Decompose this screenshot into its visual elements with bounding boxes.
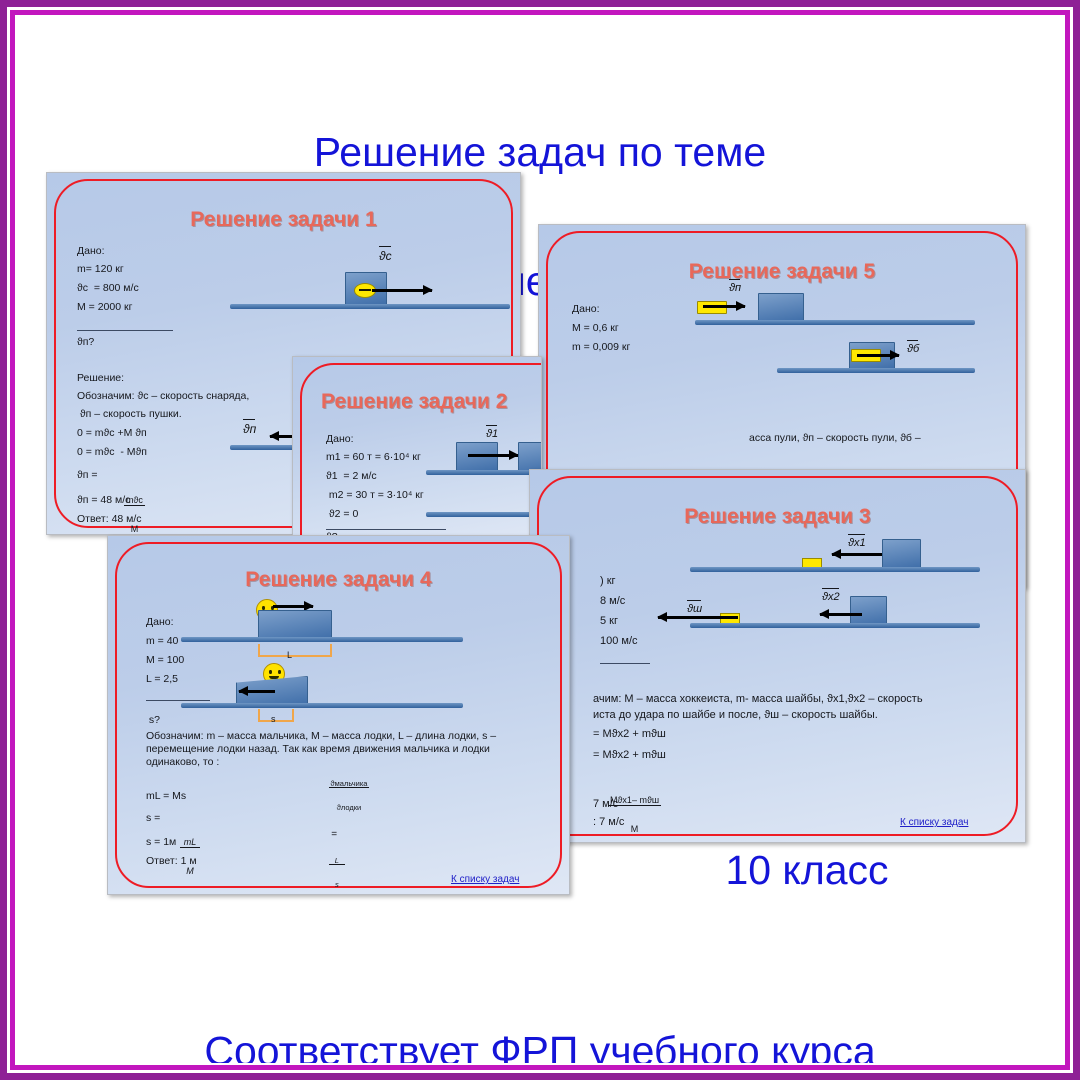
slide4-find: s? — [146, 714, 160, 728]
slide4-sol-3: s = 1м — [146, 836, 176, 850]
slide4-arrow-left — [239, 690, 275, 693]
slide4-brace-s — [258, 709, 294, 722]
slide3-ground-1 — [690, 567, 980, 572]
slide3-given-3: 100 м/с — [600, 634, 638, 648]
grade-label: 10 класс — [617, 849, 997, 892]
slide1-solution-4: ϑп = — [77, 469, 97, 483]
slide3-vsh-text: ϑш — [687, 603, 702, 615]
slide2-v1-text: ϑ1 — [486, 428, 498, 440]
slide-title-2: Решение задачи 2 — [321, 390, 542, 414]
slide1-given-label: Дано: — [77, 245, 105, 259]
slide2-ground-1 — [426, 470, 542, 475]
poster-canvas: Решение задач по теме “Закон сохранения … — [17, 17, 1063, 1063]
slide1-given-1: ϑc = 800 м/с — [77, 282, 139, 296]
slide2-wagon-1 — [456, 442, 498, 472]
slide4-given-0: m = 40 — [146, 635, 178, 649]
slide3-ground-2 — [690, 623, 980, 628]
slide-card-4[interactable]: Решение задачи 4 Дано: m = 40 M = 100 L … — [107, 535, 570, 895]
slide3-arrow-left-2 — [820, 613, 862, 616]
slide4-sol-4: Ответ: 1 м — [146, 855, 197, 869]
slide3-divider — [600, 663, 650, 664]
slide2-wagon-2 — [518, 442, 542, 472]
slide2-arrow-right — [468, 454, 518, 457]
slide1-solution-2: 0 = mϑc +M ϑп — [77, 427, 147, 441]
slide3-arrow-left-3 — [658, 616, 738, 619]
slide1-solution-label: Решение: — [77, 372, 124, 386]
slide2-divider — [326, 529, 446, 530]
slide5-ground-2 — [777, 368, 975, 373]
slide1-solution-1: ϑп – скорость пушки. — [77, 408, 182, 422]
slide3-given-0: ) кг — [600, 574, 616, 588]
slide5-given-label: Дано: — [572, 303, 600, 317]
slide3-sol-1: иста до удара по шайбе и после, ϑш – ско… — [593, 708, 878, 722]
slide3-vx1-label: ϑx1 — [848, 537, 866, 549]
slide-title-5: Решение задачи 5 — [539, 260, 1025, 284]
slide3-back-link[interactable]: К списку задач — [900, 817, 968, 828]
slide3-player-1 — [882, 539, 921, 569]
slide2-given-1: ϑ1 = 2 м/с — [326, 470, 377, 484]
slide3-sol-4: 7 м/с — [593, 797, 618, 811]
frp-line1: Соответствует ФРП учебного курса — [17, 1029, 1063, 1063]
slide4-brace-L-label: L — [287, 650, 292, 662]
frp-label: Соответствует ФРП учебного курса “Физика… — [17, 937, 1063, 1063]
slide4-ratio-fraction: ϑмальчика ϑлодки = L s . — [316, 754, 369, 895]
slide4-divider — [146, 700, 210, 701]
slide2-given-2: m2 = 30 т = 3·10⁴ кг — [326, 489, 424, 503]
slide1-vp-label: ϑп — [243, 422, 256, 436]
slide4-ratio-den2: s — [329, 881, 346, 889]
slide4-sol-2: s = — [146, 812, 160, 826]
slide4-arrow-right — [273, 605, 313, 608]
slide3-vx2-label: ϑx2 — [822, 591, 840, 603]
slide5-given-1: m = 0,009 кг — [572, 341, 630, 355]
slide3-vsh-label: ϑш — [687, 603, 702, 615]
slide4-s-fraction: mL M — [165, 807, 200, 895]
slide-title-3: Решение задачи 3 — [530, 505, 1025, 529]
slide3-vx2-text: ϑx2 — [822, 591, 840, 603]
slide3-arrow-left-1 — [832, 553, 884, 556]
slide4-ratio-num: ϑмальчика — [329, 780, 370, 789]
shell-slot — [359, 289, 371, 291]
slide5-given-0: M = 0,6 кг — [572, 322, 619, 336]
slide3-sol-2: = Mϑx2 + mϑш — [593, 727, 666, 741]
slide5-clipped-text: асса пули, ϑп – скорость пули, ϑб – — [749, 432, 921, 446]
slide5-arrow-right-2 — [857, 354, 899, 357]
page-title-line1: Решение задач по теме — [17, 131, 1063, 174]
slide1-arrow-right — [372, 289, 432, 292]
slide3-player-2 — [850, 596, 887, 626]
slide3-given-1: 8 м/с — [600, 594, 625, 608]
slide1-given-2: M = 2000 кг — [77, 301, 132, 315]
slide5-vb-label: ϑб — [907, 343, 919, 355]
slide4-brace-s-label: s — [271, 714, 276, 726]
slide1-divider — [77, 330, 173, 331]
slide3-sol-5: : 7 м/с — [593, 815, 624, 829]
slide1-vp-text: ϑп — [243, 422, 256, 436]
slide1-solution-3: 0 = mϑc - Mϑп — [77, 446, 147, 460]
slide2-given-3: ϑ2 = 0 — [326, 508, 358, 522]
slide3-given-2: 5 кг — [600, 614, 618, 628]
slide2-ground-2 — [426, 512, 542, 517]
slide4-given-2: L = 2,5 — [146, 673, 178, 687]
slide1-vc-text: ϑc — [379, 249, 392, 263]
slide-title-1: Решение задачи 1 — [47, 208, 520, 232]
slide3-sol-3: = Mϑx2 + mϑш — [593, 748, 666, 762]
slide1-solution-0: Обозначим: ϑc – скорость снаряда, — [77, 390, 249, 404]
slide3-vx1-text: ϑx1 — [848, 537, 866, 549]
slide4-water-2 — [181, 703, 463, 708]
slide5-target-box-1 — [758, 293, 804, 322]
slide1-find: ϑп? — [77, 336, 94, 350]
slide5-ground-1 — [695, 320, 975, 325]
slide4-given-1: M = 100 — [146, 654, 184, 668]
slide4-s-frac-num: mL — [180, 838, 200, 848]
slide3-sol-0: ачим: M – масса хоккеиста, m- масса шайб… — [593, 692, 923, 706]
slide4-boat-1 — [258, 610, 332, 640]
slide4-ratio-den: ϑлодки — [329, 804, 370, 812]
slide1-given-0: m= 120 кг — [77, 263, 124, 277]
slide4-back-link[interactable]: К списку задач — [451, 874, 519, 885]
slide5-arrow-right-1 — [703, 305, 745, 308]
slide4-sol-1: mL = Ms — [146, 790, 186, 804]
slide4-brace-L — [258, 644, 332, 657]
slide4-water-1 — [181, 637, 463, 642]
slide1-solution-5: ϑп = 48 м/с — [77, 494, 130, 508]
slide-card-2[interactable]: Решение задачи 2 Дано: m1 = 60 т = 6·10⁴… — [292, 356, 542, 538]
slide-card-3[interactable]: Решение задачи 3 ) кг 8 м/с 5 кг 100 м/с… — [529, 469, 1026, 843]
slide2-given-0: m1 = 60 т = 6·10⁴ кг — [326, 451, 421, 465]
slide2-v1-label: ϑ1 — [486, 428, 498, 440]
slide1-solution-6: Ответ: 48 м/с — [77, 513, 142, 527]
slide5-vb-text: ϑб — [907, 343, 919, 355]
slide2-given-label: Дано: — [326, 433, 354, 447]
slide5-vp-label: ϑп — [729, 282, 741, 294]
slide-title-4: Решение задачи 4 — [108, 568, 569, 592]
slide1-ground-top — [230, 304, 510, 309]
slide5-vp-text: ϑп — [729, 282, 741, 294]
slide1-vc-label: ϑc — [379, 249, 392, 263]
slide4-ratio-num2: L — [329, 857, 346, 866]
slide4-given-label: Дано: — [146, 616, 174, 630]
